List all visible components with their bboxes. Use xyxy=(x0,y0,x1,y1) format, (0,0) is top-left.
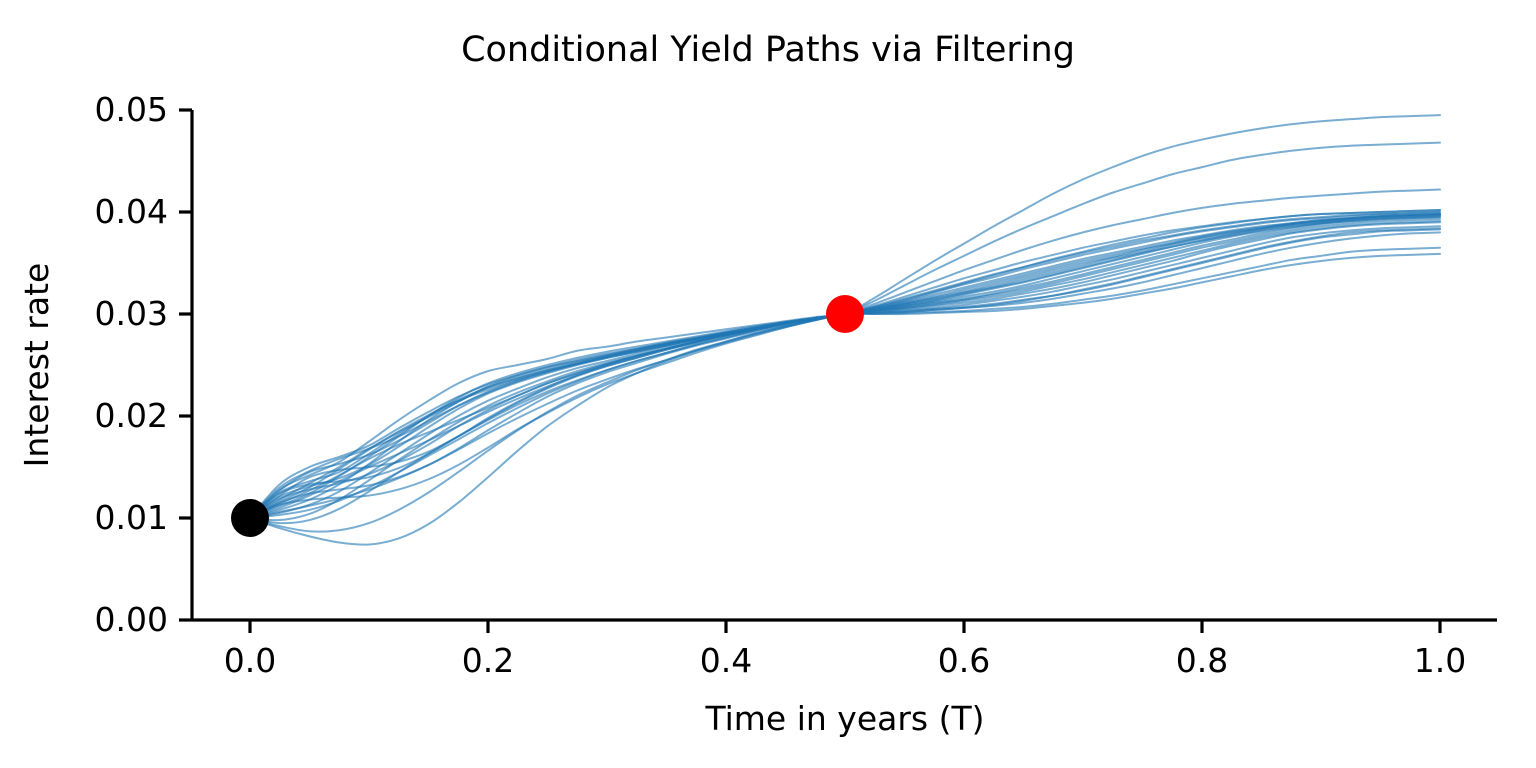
yield-path-line xyxy=(250,210,1440,518)
x-tick-label: 1.0 xyxy=(1414,641,1466,680)
y-axis-label: Interest rate xyxy=(17,263,56,468)
yield-path-line xyxy=(250,217,1440,518)
x-tick-label: 0.8 xyxy=(1176,641,1228,680)
y-tick-label: 0.04 xyxy=(95,192,168,231)
yield-path-line xyxy=(250,212,1440,518)
yield-path-line xyxy=(250,215,1440,518)
chart-figure: Conditional Yield Paths via Filtering 0.… xyxy=(0,0,1536,768)
yield-path-line xyxy=(250,215,1440,518)
x-tick-label: 0.0 xyxy=(224,641,276,680)
yield-path-line xyxy=(250,216,1440,518)
yield-path-line xyxy=(250,217,1440,518)
y-tick-label: 0.03 xyxy=(95,294,168,333)
start-point-marker xyxy=(231,499,269,537)
yield-path-line xyxy=(250,212,1440,518)
conditioning-point-marker xyxy=(826,295,864,333)
x-tick-label: 0.2 xyxy=(462,641,514,680)
yield-path-line xyxy=(250,254,1440,518)
axes-group xyxy=(179,110,1497,633)
y-tick-label: 0.01 xyxy=(95,498,168,537)
x-axis-label: Time in years (T) xyxy=(704,699,984,738)
yield-path-line xyxy=(250,228,1440,518)
x-tick-label: 0.4 xyxy=(700,641,752,680)
x-tick-label: 0.6 xyxy=(938,641,990,680)
y-tick-label: 0.00 xyxy=(95,600,168,639)
yield-path-line xyxy=(250,210,1440,518)
yield-path-line xyxy=(250,232,1440,544)
y-tick-label: 0.02 xyxy=(95,396,168,435)
chart-plot-area: 0.000.010.020.030.040.050.00.20.40.60.81… xyxy=(0,0,1536,768)
axis-labels-group: 0.000.010.020.030.040.050.00.20.40.60.81… xyxy=(17,90,1466,738)
yield-path-line xyxy=(250,219,1440,520)
yield-path-line xyxy=(250,214,1440,518)
yield-path-line xyxy=(250,214,1440,518)
y-tick-label: 0.05 xyxy=(95,90,168,129)
yield-path-line xyxy=(250,248,1440,532)
yield-path-line xyxy=(250,214,1440,518)
